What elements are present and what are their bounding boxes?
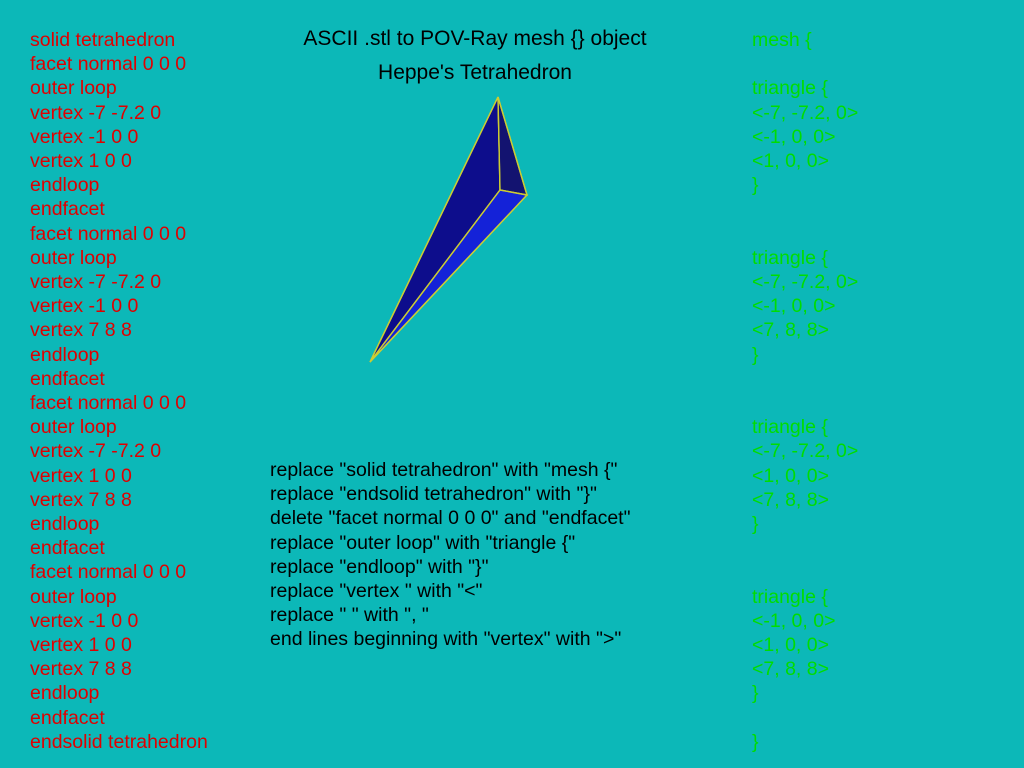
mesh-line: <1, 0, 0> xyxy=(752,464,1002,488)
stl-line: endloop xyxy=(30,173,290,197)
stl-line: vertex -1 0 0 xyxy=(30,294,290,318)
instruction-line: replace " " with ", " xyxy=(270,603,740,627)
stl-line: outer loop xyxy=(30,415,290,439)
mesh-line: triangle { xyxy=(752,76,1002,100)
mesh-line: <7, 8, 8> xyxy=(752,318,1002,342)
mesh-line: triangle { xyxy=(752,415,1002,439)
stl-line: vertex -1 0 0 xyxy=(30,609,290,633)
stl-line: vertex -7 -7.2 0 xyxy=(30,101,290,125)
mesh-line: <-7, -7.2, 0> xyxy=(752,101,1002,125)
instruction-line: replace "endloop" with "}" xyxy=(270,555,740,579)
mesh-line: } xyxy=(752,681,1002,705)
mesh-line: } xyxy=(752,512,1002,536)
mesh-line xyxy=(752,52,1002,76)
mesh-line xyxy=(752,222,1002,246)
mesh-line: <1, 0, 0> xyxy=(752,149,1002,173)
povray-output-column: mesh { triangle { <-7, -7.2, 0> <-1, 0, … xyxy=(752,28,1002,754)
stl-line: endfacet xyxy=(30,706,290,730)
stl-line: vertex -7 -7.2 0 xyxy=(30,270,290,294)
stl-line: vertex 1 0 0 xyxy=(30,464,290,488)
stl-line: vertex 7 8 8 xyxy=(30,318,290,342)
instruction-line: replace "vertex " with "<" xyxy=(270,579,740,603)
page-subtitle: Heppe's Tetrahedron xyxy=(255,60,695,86)
mesh-line: triangle { xyxy=(752,585,1002,609)
heading-block: ASCII .stl to POV-Ray mesh {} object Hep… xyxy=(255,26,695,86)
tetrahedron-render xyxy=(340,85,570,385)
stl-line: vertex 7 8 8 xyxy=(30,657,290,681)
mesh-line: } xyxy=(752,343,1002,367)
tetrahedron-svg xyxy=(340,85,570,385)
mesh-line: <7, 8, 8> xyxy=(752,657,1002,681)
stl-line: vertex 1 0 0 xyxy=(30,149,290,173)
stl-line: vertex 1 0 0 xyxy=(30,633,290,657)
mesh-line: <-1, 0, 0> xyxy=(752,125,1002,149)
stl-line: vertex -7 -7.2 0 xyxy=(30,439,290,463)
instruction-line: replace "outer loop" with "triangle {" xyxy=(270,531,740,555)
stl-line: outer loop xyxy=(30,246,290,270)
stl-line: endfacet xyxy=(30,367,290,391)
instruction-line: end lines beginning with "vertex" with "… xyxy=(270,627,740,651)
mesh-line: } xyxy=(752,730,1002,754)
mesh-line: triangle { xyxy=(752,246,1002,270)
stl-line: endfacet xyxy=(30,536,290,560)
mesh-line: <7, 8, 8> xyxy=(752,488,1002,512)
instruction-line: replace "solid tetrahedron" with "mesh {… xyxy=(270,458,740,482)
mesh-line xyxy=(752,706,1002,730)
mesh-line: <1, 0, 0> xyxy=(752,633,1002,657)
mesh-line xyxy=(752,367,1002,391)
mesh-line: <-1, 0, 0> xyxy=(752,609,1002,633)
stl-line: facet normal 0 0 0 xyxy=(30,52,290,76)
stl-line: facet normal 0 0 0 xyxy=(30,391,290,415)
stl-line: vertex -1 0 0 xyxy=(30,125,290,149)
page-title: ASCII .stl to POV-Ray mesh {} object xyxy=(255,26,695,52)
mesh-line xyxy=(752,197,1002,221)
stl-line: endsolid tetrahedron xyxy=(30,730,290,754)
stl-line: facet normal 0 0 0 xyxy=(30,222,290,246)
mesh-line: <-7, -7.2, 0> xyxy=(752,439,1002,463)
mesh-line: mesh { xyxy=(752,28,1002,52)
mesh-line: <-7, -7.2, 0> xyxy=(752,270,1002,294)
stl-line: facet normal 0 0 0 xyxy=(30,560,290,584)
mesh-line: } xyxy=(752,173,1002,197)
mesh-line: <-1, 0, 0> xyxy=(752,294,1002,318)
stl-line: endfacet xyxy=(30,197,290,221)
instruction-line: replace "endsolid tetrahedron" with "}" xyxy=(270,482,740,506)
mesh-line xyxy=(752,560,1002,584)
slide-canvas: solid tetrahedron facet normal 0 0 0 out… xyxy=(0,0,1024,768)
tetra-edge-junction-tip xyxy=(370,190,500,362)
stl-line: outer loop xyxy=(30,76,290,100)
stl-line: solid tetrahedron xyxy=(30,28,290,52)
stl-source-column: solid tetrahedron facet normal 0 0 0 out… xyxy=(30,28,290,754)
stl-line: endloop xyxy=(30,343,290,367)
stl-line: outer loop xyxy=(30,585,290,609)
mesh-line xyxy=(752,536,1002,560)
instruction-line: delete "facet normal 0 0 0" and "endface… xyxy=(270,506,740,530)
stl-line: endloop xyxy=(30,681,290,705)
instructions-block: replace "solid tetrahedron" with "mesh {… xyxy=(270,458,740,652)
mesh-line xyxy=(752,391,1002,415)
stl-line: endloop xyxy=(30,512,290,536)
stl-line: vertex 7 8 8 xyxy=(30,488,290,512)
